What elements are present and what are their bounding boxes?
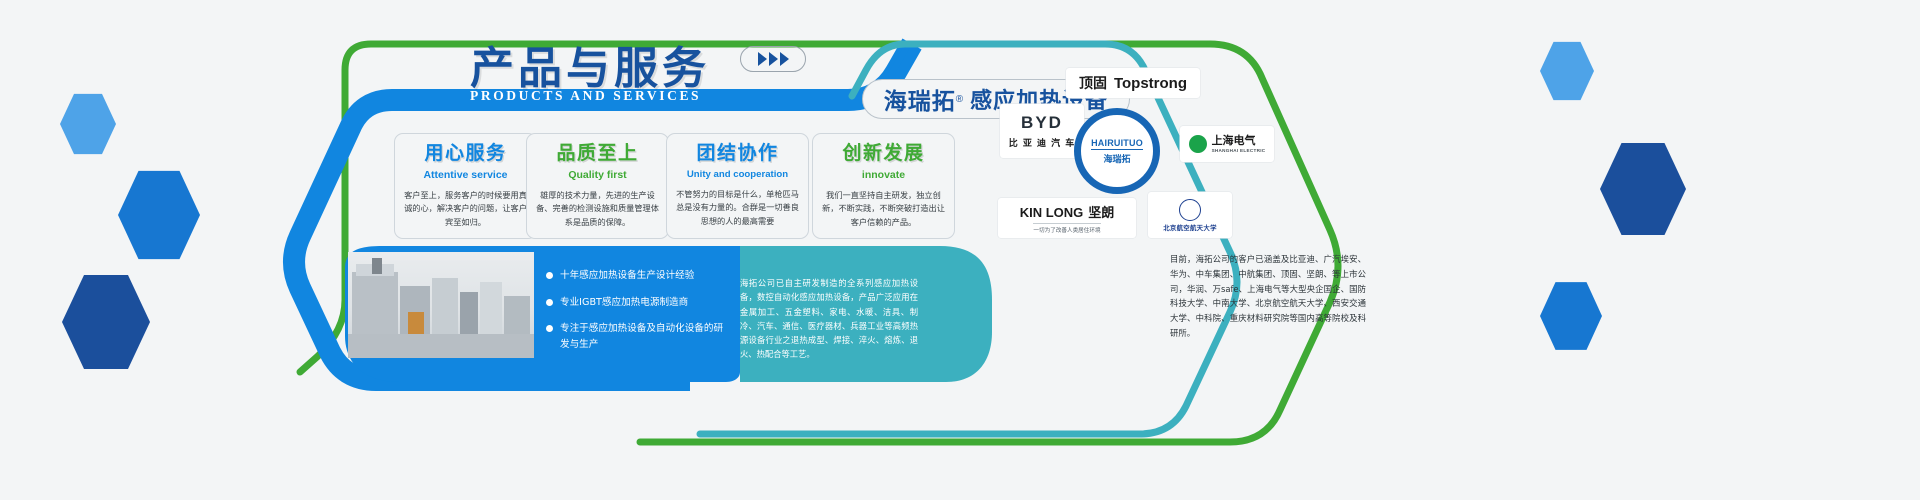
value-card-4-title: 创新发展 — [821, 144, 946, 163]
hairuituo-logo-cn: 海瑞拓 — [1103, 152, 1130, 165]
value-card-1[interactable]: 用心服务 Attentive service 客户至上，服务客户的时候要用真诚的… — [394, 133, 537, 239]
factory-machine-photo — [348, 252, 534, 358]
value-card-3-body: 不管努力的目标是什么，单枪匹马总是没有力量的。合群是一切善良思想的人的最高需要 — [675, 188, 800, 228]
client-logo-byd: BYD 比 亚 迪 汽 车 — [1000, 104, 1084, 158]
value-card-4[interactable]: 创新发展 innovate 我们一直坚持自主研发，独立创新，不断实践，不断突破打… — [812, 133, 955, 239]
client-logo-kinlong-tagline: 一切为了改善人类居住环境 — [1033, 223, 1100, 234]
value-card-2-subtitle: Quality first — [535, 169, 660, 181]
client-logo-buaa: 北京航空航天大学 — [1148, 192, 1232, 238]
client-logo-shanghai-electric: 上海电气 SHANGHAI ELECTRIC — [1180, 126, 1274, 162]
list-item: 专业IGBT感应加热电源制造商 — [546, 295, 731, 311]
company-description-teal: 海拓公司已自主研发制造的全系列感应加热设备，数控自动化感应加热设备，产品广泛应用… — [740, 276, 918, 362]
client-logo-kinlong-en: KIN LONG — [1020, 205, 1084, 220]
value-card-3-subtitle: Unity and cooperation — [675, 169, 800, 180]
client-logo-byd-en: BYD — [1021, 113, 1063, 133]
value-card-2[interactable]: 品质至上 Quality first 雄厚的技术力量，先进的生产设备、完善的检测… — [526, 133, 669, 239]
value-card-4-subtitle: innovate — [821, 169, 946, 181]
client-logo-topstrong-cn: 顶固 — [1079, 73, 1107, 93]
client-logo-shanghai-electric-en: SHANGHAI ELECTRIC — [1212, 148, 1266, 153]
client-logo-topstrong: 顶固 Topstrong — [1066, 68, 1200, 98]
value-card-3[interactable]: 团结协作 Unity and cooperation 不管努力的目标是什么，单枪… — [666, 133, 809, 239]
hairuituo-ring-logo: HAIRUITUO 海瑞拓 — [1074, 108, 1160, 194]
triple-chevron-right-icon — [740, 46, 806, 72]
list-item: 专注于感应加热设备及自动化设备的研发与生产 — [546, 321, 731, 352]
value-card-3-title: 团结协作 — [675, 144, 800, 163]
value-card-2-title: 品质至上 — [535, 144, 660, 163]
brand-name-cn: 海瑞拓 — [884, 82, 956, 116]
client-logo-shanghai-electric-cn: 上海电气 — [1212, 135, 1266, 148]
shanghai-electric-mark-icon — [1189, 135, 1207, 153]
registered-mark-icon: ® — [956, 94, 963, 105]
hairuituo-logo-en: HAIRUITUO — [1091, 138, 1143, 150]
client-logo-kinlong: KIN LONG 坚朗 一切为了改善人类居住环境 — [998, 198, 1136, 238]
value-card-4-body: 我们一直坚持自主研发，独立创新，不断实践，不断突破打造出让客户信赖的产品。 — [821, 189, 946, 229]
value-card-1-subtitle: Attentive service — [403, 169, 528, 181]
value-card-1-title: 用心服务 — [403, 144, 528, 163]
value-card-2-body: 雄厚的技术力量，先进的生产设备、完善的检测设施和质量管理体系是品质的保障。 — [535, 189, 660, 229]
feature-bullets-list: 十年感应加热设备生产设计经验 专业IGBT感应加热电源制造商 专注于感应加热设备… — [546, 268, 731, 363]
client-logo-buaa-cn: 北京航空航天大学 — [1163, 223, 1217, 232]
page-title-cn: 产品与服务 — [470, 32, 710, 96]
client-description-right: 目前，海拓公司的客户已涵盖及比亚迪、广汽埃安、华为、中车集团、中航集团、顶固、坚… — [1170, 252, 1366, 341]
client-logo-topstrong-en: Topstrong — [1114, 75, 1187, 92]
list-item: 十年感应加热设备生产设计经验 — [546, 268, 731, 284]
poster-canvas: 产品与服务 PRODUCTS AND SERVICES 海瑞拓 ® 感应加热设备… — [0, 0, 1920, 500]
buaa-crest-icon — [1179, 199, 1201, 221]
client-logo-byd-cn: 比 亚 迪 汽 车 — [1009, 136, 1076, 149]
value-card-1-body: 客户至上，服务客户的时候要用真诚的心，解决客户的问题，让客户宾至如归。 — [403, 189, 528, 229]
client-logo-kinlong-cn: 坚朗 — [1088, 202, 1114, 221]
page-title-en: PRODUCTS AND SERVICES — [470, 88, 701, 104]
frame-strokes — [0, 0, 1920, 500]
